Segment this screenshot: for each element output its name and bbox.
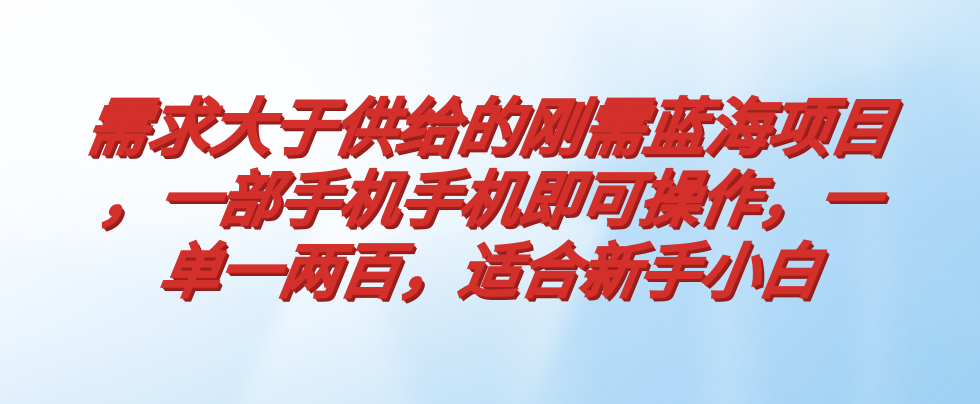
headline-line-1: 需求大于供给的刚需蓝海项目 xyxy=(20,92,959,164)
headline-line-2: ，一部手机手机即可操作，一 xyxy=(20,164,959,236)
promo-banner: 需求大于供给的刚需蓝海项目 ，一部手机手机即可操作，一 单一两百，适合新手小白 xyxy=(0,0,980,404)
headline-line-3: 单一两百，适合新手小白 xyxy=(20,236,959,308)
headline-block: 需求大于供给的刚需蓝海项目 ，一部手机手机即可操作，一 单一两百，适合新手小白 xyxy=(0,92,980,308)
